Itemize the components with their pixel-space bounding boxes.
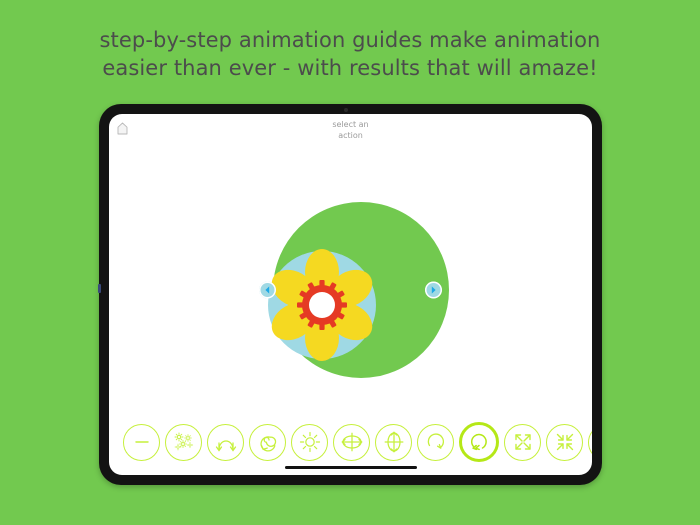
tool-button-grow[interactable] bbox=[207, 424, 244, 461]
home-indicator-bar[interactable] bbox=[285, 466, 417, 470]
tool-button-flip-vertical[interactable] bbox=[375, 424, 412, 461]
rotate-icon bbox=[424, 430, 448, 454]
headline-line-1: step-by-step animation guides make anima… bbox=[0, 26, 700, 54]
status-label-line-1: select an bbox=[109, 119, 592, 130]
app-topbar: select an action bbox=[109, 114, 592, 160]
tool-button-rotate[interactable] bbox=[417, 424, 454, 461]
tablet-screen: select an action bbox=[109, 114, 592, 475]
prev-button[interactable] bbox=[259, 282, 276, 299]
tool-button-move-right[interactable] bbox=[588, 424, 592, 461]
tool-button-sparkle[interactable] bbox=[165, 424, 202, 461]
flip-horizontal-icon bbox=[339, 429, 365, 455]
device-side-button[interactable] bbox=[98, 284, 101, 293]
tool-button-flip-horizontal[interactable] bbox=[333, 424, 370, 461]
center-hole bbox=[309, 292, 335, 318]
headline-line-2: easier than ever - with results that wil… bbox=[0, 54, 700, 82]
rotate-ccw-icon bbox=[467, 430, 491, 454]
spiral-icon bbox=[255, 429, 281, 455]
tool-button-contract[interactable] bbox=[546, 424, 583, 461]
tablet-device: select an action bbox=[99, 104, 602, 485]
device-camera bbox=[344, 108, 348, 112]
minus-line-icon bbox=[131, 431, 153, 453]
canvas-stage[interactable] bbox=[109, 160, 592, 420]
tool-button-expand[interactable] bbox=[504, 424, 541, 461]
grow-arch-icon bbox=[213, 429, 239, 455]
status-label-line-2: action bbox=[109, 130, 592, 141]
action-toolbar-track[interactable] bbox=[123, 422, 592, 462]
next-button[interactable] bbox=[425, 282, 442, 299]
contract-icon bbox=[553, 430, 577, 454]
chevron-left-icon bbox=[263, 286, 272, 295]
flip-vertical-icon bbox=[381, 429, 407, 455]
chevron-right-icon bbox=[429, 286, 438, 295]
sun-rays-icon bbox=[297, 429, 323, 455]
tool-button-shine[interactable] bbox=[291, 424, 328, 461]
expand-icon bbox=[511, 430, 535, 454]
tool-button-spiral[interactable] bbox=[249, 424, 286, 461]
tool-button-line[interactable] bbox=[123, 424, 160, 461]
action-toolbar[interactable] bbox=[109, 420, 592, 462]
tool-button-spin-selected[interactable] bbox=[459, 422, 499, 462]
status-label: select an action bbox=[109, 119, 592, 141]
sparkles-icon bbox=[172, 430, 196, 454]
promo-headline: step-by-step animation guides make anima… bbox=[0, 26, 700, 82]
